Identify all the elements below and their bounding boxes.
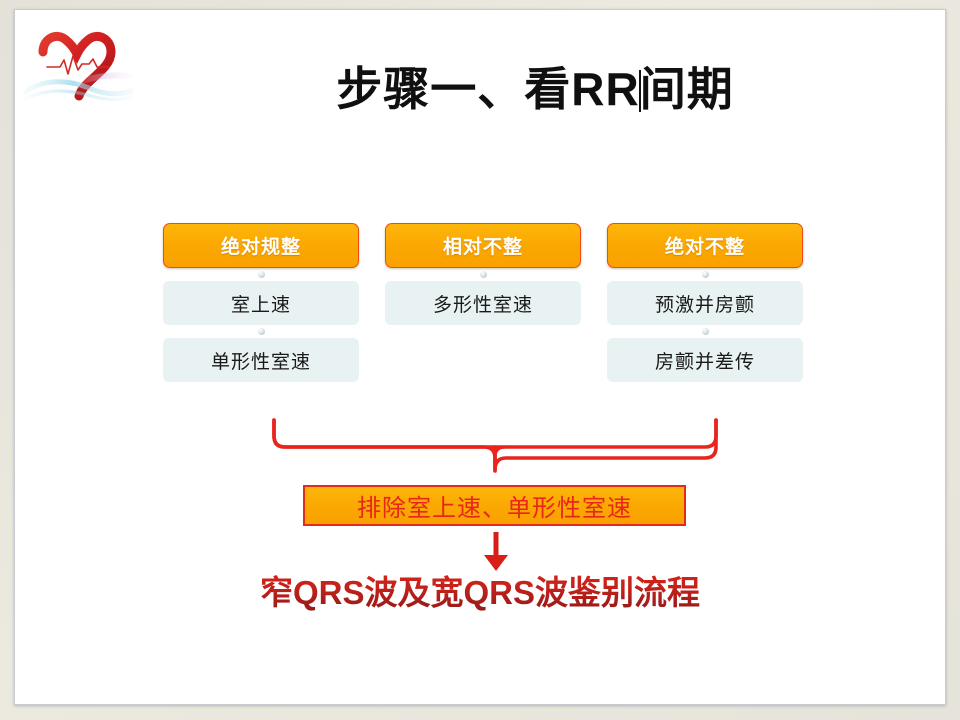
flow-header-box-2[interactable]: 绝对不整: [607, 223, 803, 268]
connector-dot-0-1: [163, 268, 359, 281]
flow-column-2: 绝对不整 预激并房颤 房颤并差传: [607, 223, 803, 382]
connector-dot-2-1: [607, 268, 803, 281]
flow-header-label-2: 绝对不整: [665, 232, 745, 259]
connector-dot-1-1: [385, 268, 581, 281]
heart-ecg-logo: [23, 18, 133, 110]
merge-bracket-icon: [263, 415, 727, 475]
heart-ecg-logo-icon: [23, 18, 133, 110]
conclusion-text: 窄QRS波及宽QRS波鉴别流程: [15, 566, 945, 614]
connector-dot-2-2: [607, 325, 803, 338]
slide-frame: 步骤一、看RR间期 绝对规整 室上速 单形性室速: [0, 0, 960, 720]
merge-bracket: [263, 415, 727, 475]
flow-header-label-0: 绝对规整: [221, 232, 301, 259]
slide-canvas: 步骤一、看RR间期 绝对规整 室上速 单形性室速: [14, 9, 946, 705]
flow-column-0: 绝对规整 室上速 单形性室速: [163, 223, 359, 382]
flow-header-box-0[interactable]: 绝对规整: [163, 223, 359, 268]
page-title: 步骤一、看RR间期: [135, 64, 935, 115]
flow-item-label-2-1: 房颤并差传: [655, 347, 755, 374]
slide-content-area: 步骤一、看RR间期 绝对规整 室上速 单形性室速: [15, 10, 945, 704]
flow-item-box-1-0[interactable]: 多形性室速: [385, 281, 581, 325]
connector-dot-1-2: [385, 325, 581, 338]
flow-item-label-0-0: 室上速: [231, 290, 291, 317]
flow-header-label-1: 相对不整: [443, 232, 523, 259]
flow-item-label-1-0: 多形性室速: [433, 290, 533, 317]
page-title-prefix: 步骤一、看RR: [336, 63, 639, 115]
page-title-suffix: 间期: [640, 63, 734, 115]
flow-item-label-2-0: 预激并房颤: [655, 290, 755, 317]
connector-dot-0-2: [163, 325, 359, 338]
exclusion-callout-box[interactable]: 排除室上速、单形性室速: [303, 485, 686, 526]
flow-item-box-2-0[interactable]: 预激并房颤: [607, 281, 803, 325]
flow-header-box-1[interactable]: 相对不整: [385, 223, 581, 268]
flow-item-box-0-0[interactable]: 室上速: [163, 281, 359, 325]
flow-column-1: 相对不整 多形性室速: [385, 223, 581, 382]
flow-item-box-0-1[interactable]: 单形性室速: [163, 338, 359, 382]
exclusion-callout-label: 排除室上速、单形性室速: [357, 488, 632, 523]
flow-item-box-2-1[interactable]: 房颤并差传: [607, 338, 803, 382]
flow-item-label-0-1: 单形性室速: [211, 347, 311, 374]
flow-item-box-1-1: [385, 338, 581, 382]
